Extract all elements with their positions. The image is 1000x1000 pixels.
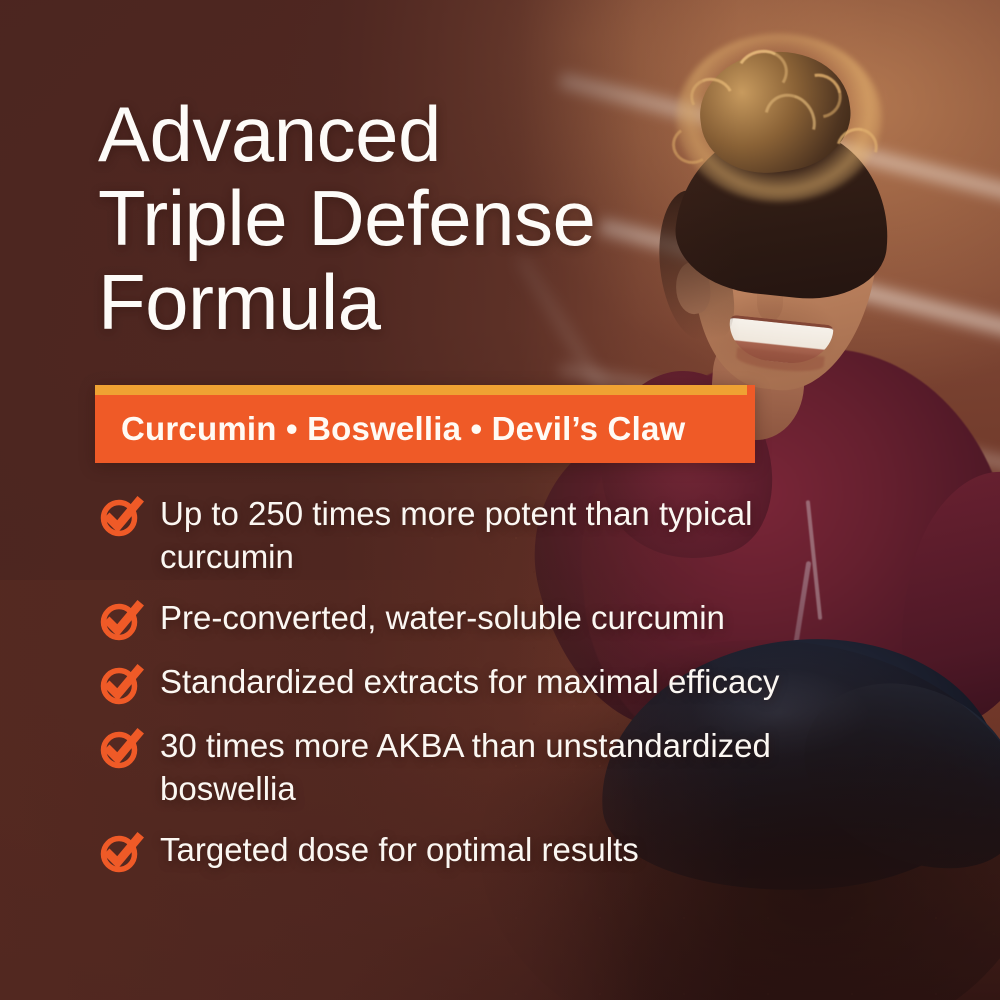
check-circle-icon <box>98 830 146 874</box>
banner-accent-stripe <box>95 385 747 395</box>
ingredient-banner: Curcumin • Boswellia • Devil’s Claw <box>95 385 755 463</box>
list-item: Up to 250 times more potent than typical… <box>98 492 798 578</box>
list-item: Targeted dose for optimal results <box>98 828 798 874</box>
check-circle-icon <box>98 726 146 770</box>
list-item: 30 times more AKBA than unstandardized b… <box>98 724 798 810</box>
benefit-text: 30 times more AKBA than unstandardized b… <box>160 724 780 810</box>
poster-content: Advanced Triple Defense Formula Curcumin… <box>0 0 1000 1000</box>
product-benefits-poster: Advanced Triple Defense Formula Curcumin… <box>0 0 1000 1000</box>
benefits-list: Up to 250 times more potent than typical… <box>98 492 798 892</box>
headline-line-3: Formula <box>98 260 718 344</box>
list-item: Pre-converted, water-soluble curcumin <box>98 596 798 642</box>
benefit-text: Standardized extracts for maximal effica… <box>160 660 779 703</box>
benefit-text: Up to 250 times more potent than typical… <box>160 492 780 578</box>
headline-line-1: Advanced <box>98 92 718 176</box>
ingredient-banner-text: Curcumin • Boswellia • Devil’s Claw <box>121 395 745 463</box>
check-circle-icon <box>98 494 146 538</box>
benefit-text: Pre-converted, water-soluble curcumin <box>160 596 725 639</box>
list-item: Standardized extracts for maximal effica… <box>98 660 798 706</box>
check-circle-icon <box>98 598 146 642</box>
check-circle-icon <box>98 662 146 706</box>
page-title: Advanced Triple Defense Formula <box>98 92 718 344</box>
headline-line-2: Triple Defense <box>98 176 718 260</box>
benefit-text: Targeted dose for optimal results <box>160 828 639 871</box>
